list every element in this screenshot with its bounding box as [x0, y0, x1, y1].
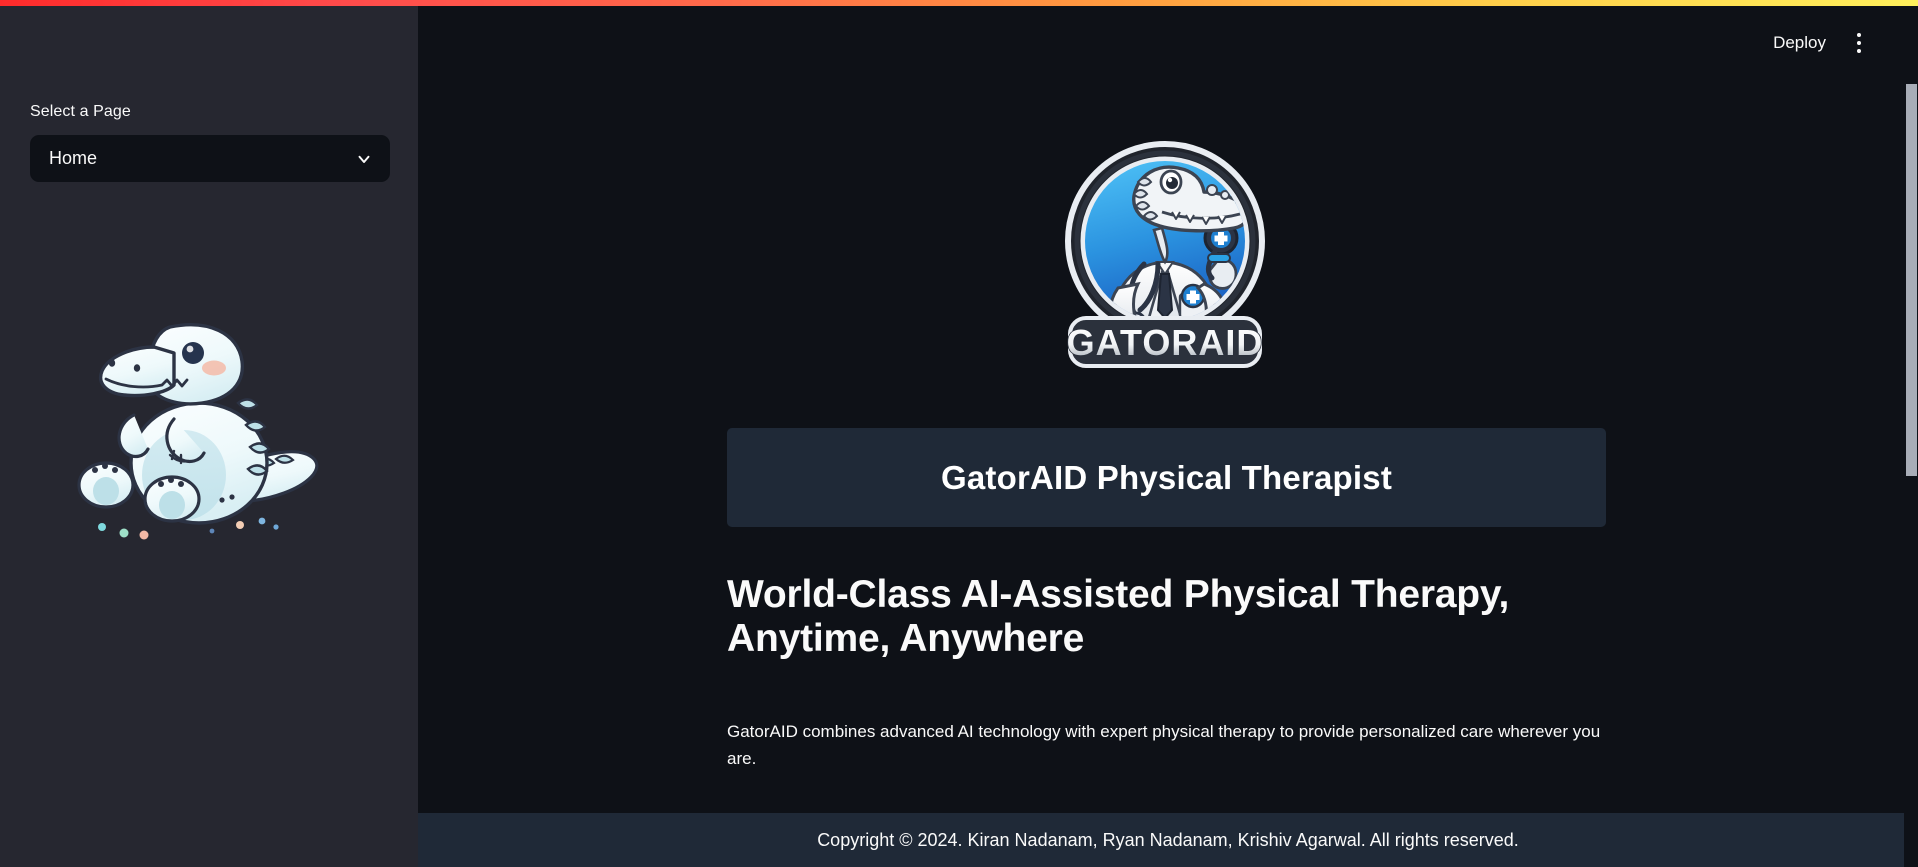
hero-heading: World-Class AI-Assisted Physical Therapy… [727, 573, 1607, 661]
logo-wordmark: GATORAID [1067, 322, 1264, 363]
app-toolbar: Deploy [418, 0, 1918, 76]
page-title: GatorAID Physical Therapist [941, 459, 1392, 497]
gatoraid-logo: GATORAID [1062, 138, 1268, 372]
chevron-down-icon [355, 150, 373, 168]
vertical-scrollbar-track[interactable] [1904, 6, 1918, 867]
kebab-dot [1857, 33, 1861, 37]
sidebar: Select a Page Home [0, 0, 418, 867]
footer: Copyright © 2024. Kiran Nadanam, Ryan Na… [418, 813, 1918, 867]
page-select[interactable]: Home [30, 135, 390, 182]
running-status-bar [0, 0, 1918, 6]
page-select-value: Home [49, 148, 97, 169]
kebab-dot [1857, 41, 1861, 45]
copyright-text: Copyright © 2024. Kiran Nadanam, Ryan Na… [817, 830, 1519, 851]
sidebar-content: Select a Page Home [0, 0, 418, 867]
select-a-page-label: Select a Page [30, 103, 131, 121]
title-banner: GatorAID Physical Therapist [727, 428, 1606, 527]
more-vertical-icon[interactable] [1844, 28, 1874, 58]
deploy-button[interactable]: Deploy [1773, 34, 1826, 51]
kebab-dot [1857, 49, 1861, 53]
main-content: Deploy [418, 0, 1918, 867]
vertical-scrollbar-thumb[interactable] [1906, 84, 1917, 476]
streamlit-app: Select a Page Home [0, 0, 1918, 867]
baby-dinosaur-illustration [62, 295, 332, 545]
hero-subtext: GatorAID combines advanced AI technology… [727, 719, 1607, 773]
